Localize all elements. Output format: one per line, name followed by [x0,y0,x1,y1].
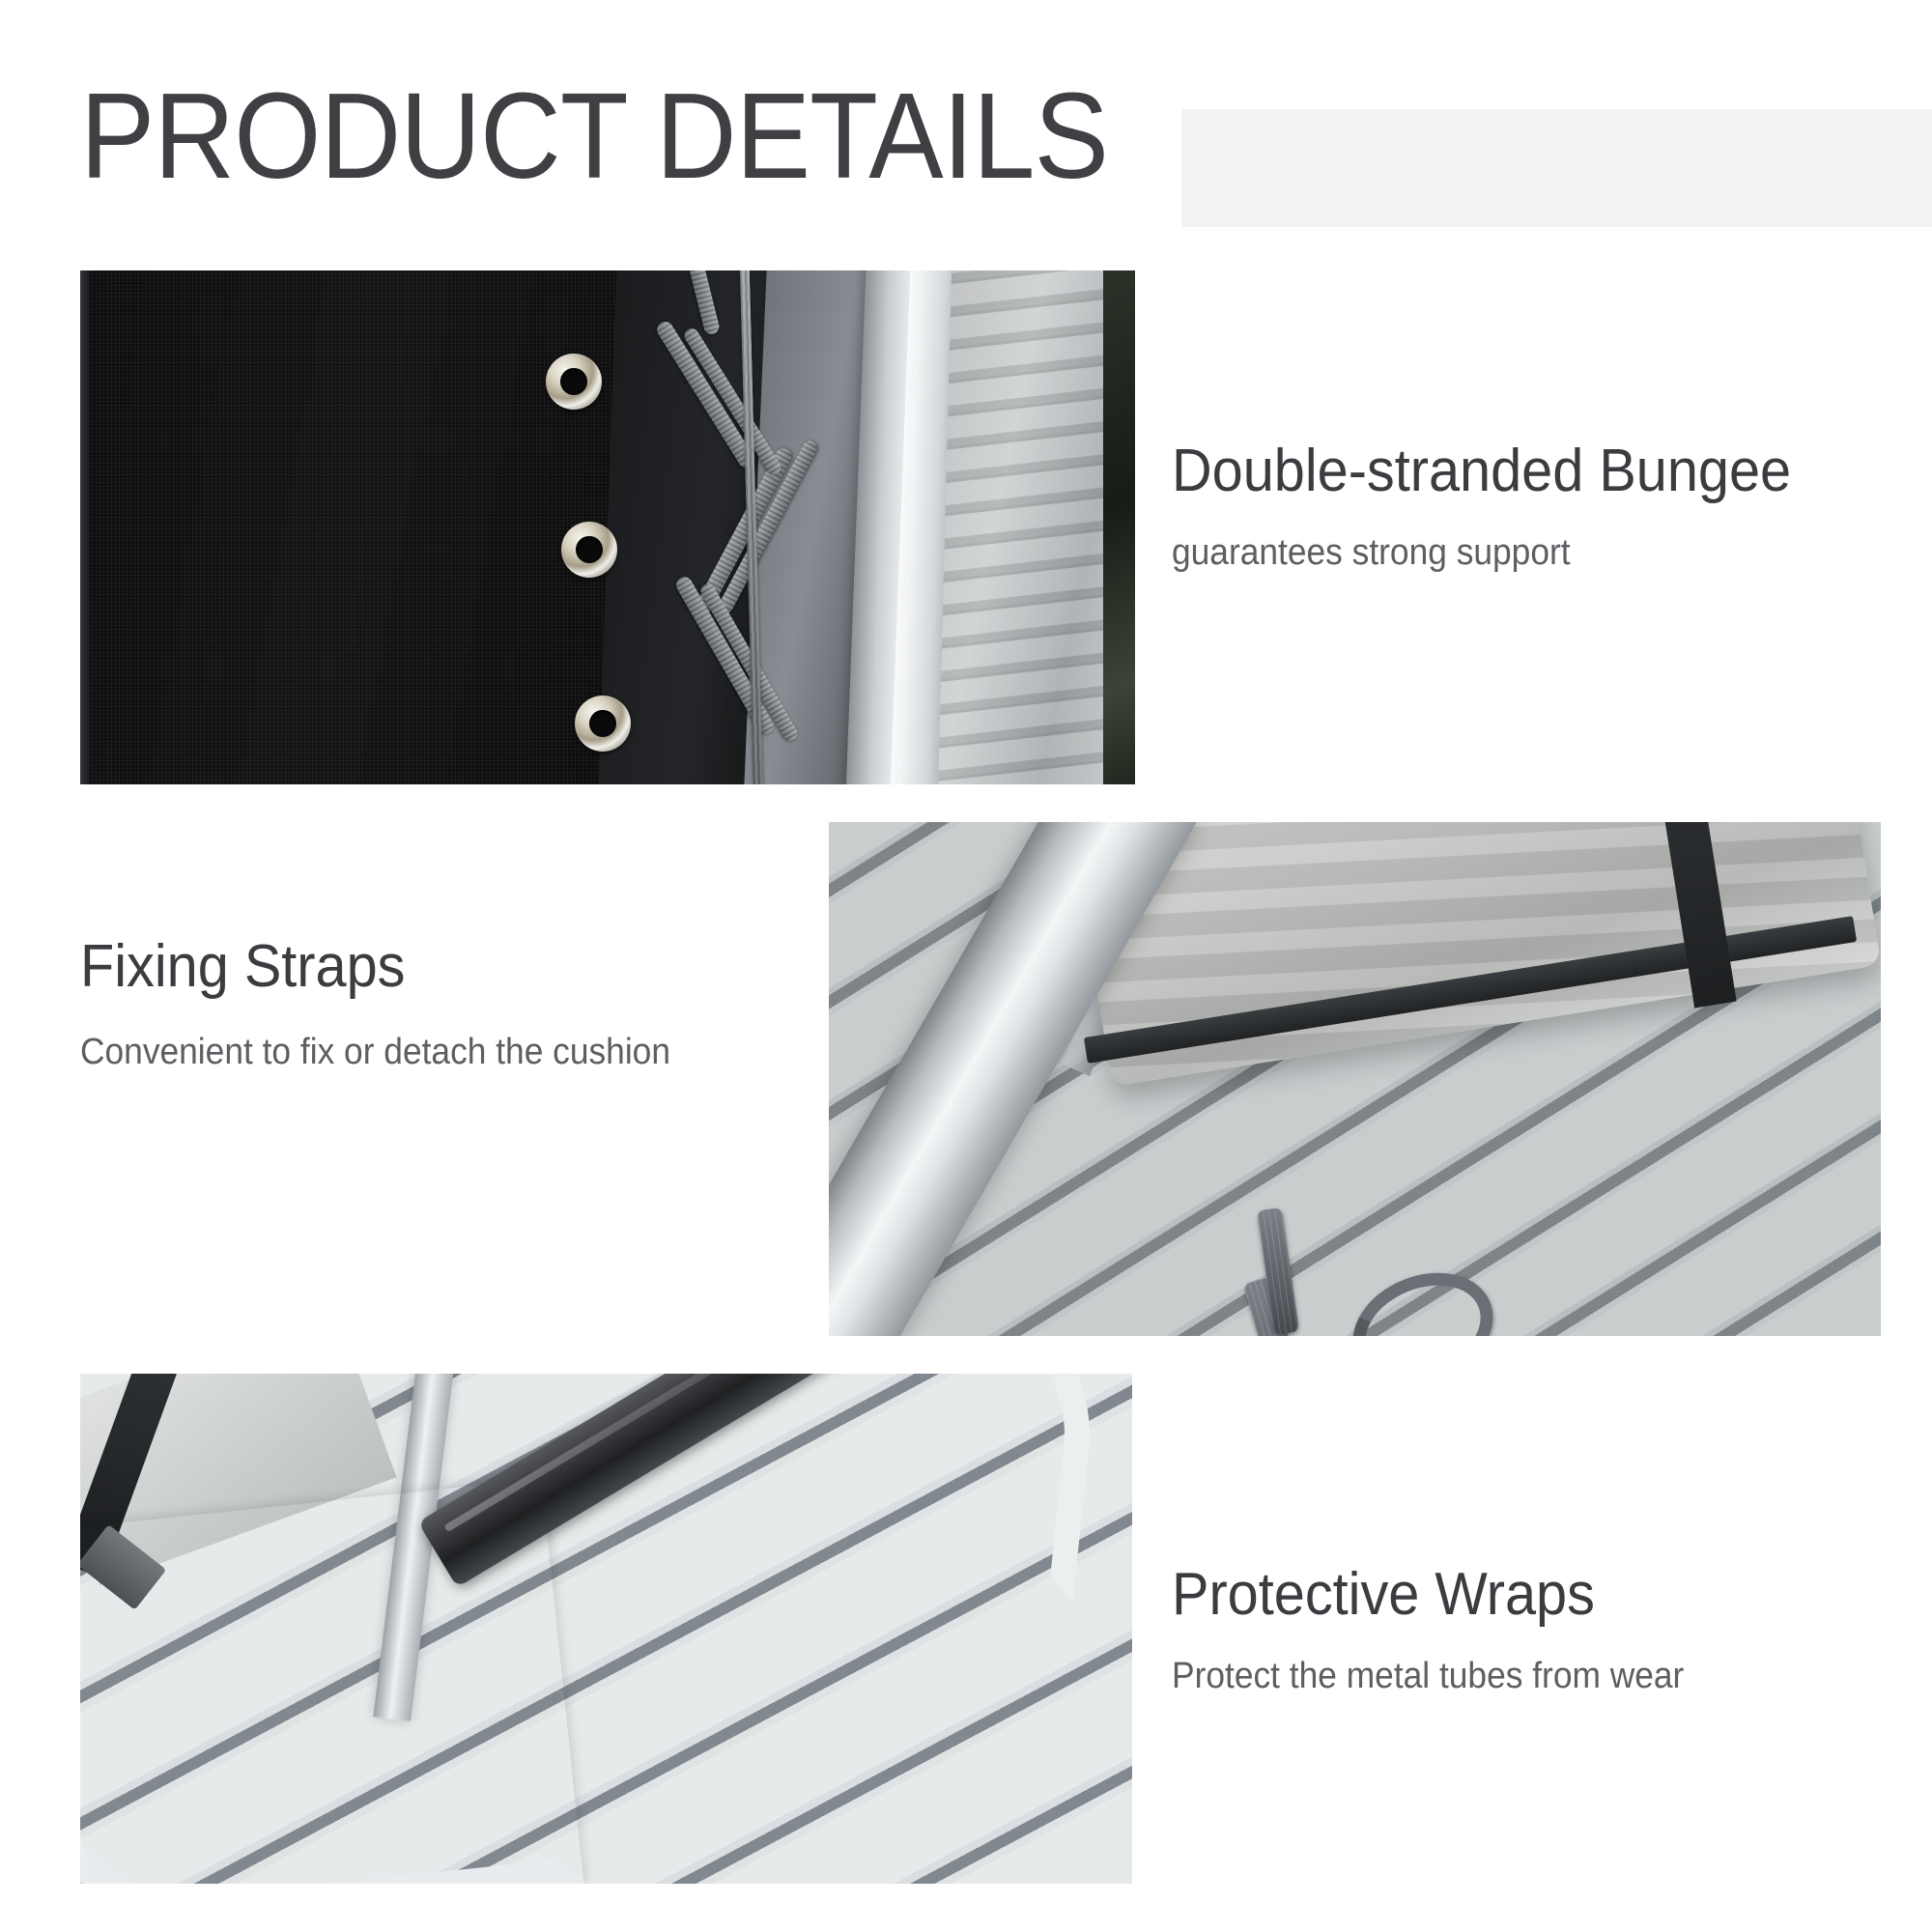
feature-text-wraps: Protective Wraps Protect the metal tubes… [1172,1563,1722,1699]
feature-subtitle-straps: Convenient to fix or detach the cushion [80,1031,670,1075]
feature-heading-straps: Fixing Straps [80,935,670,998]
photo-straps-scene [829,822,1881,1336]
metal-grommet [575,696,631,752]
photo-fixing-strap [829,822,1881,1336]
metal-grommet [546,354,602,410]
white-metal-tube-upper-right [802,1374,1106,1602]
blurred-foliage-background [1103,270,1135,784]
photo-protective-wrap [80,1374,1132,1884]
header-accent-band [1181,109,1932,227]
page-title: PRODUCT DETAILS [80,75,1108,197]
feature-heading-wraps: Protective Wraps [1172,1563,1684,1626]
feature-subtitle-wraps: Protect the metal tubes from wear [1172,1655,1684,1699]
photo-bungee-scene [80,270,1135,784]
mesh-edge-binding [80,270,90,784]
photo-bungee-lacing [80,270,1135,784]
metal-grommet [561,522,617,578]
feature-text-straps: Fixing Straps Convenient to fix or detac… [80,935,715,1075]
feature-text-bungee: Double-stranded Bungee guarantees strong… [1172,440,1837,576]
product-details-page: PRODUCT DETAILS Double-stra [0,0,1932,1932]
feature-heading-bungee: Double-stranded Bungee [1172,440,1791,502]
photo-wraps-scene [80,1374,1132,1884]
feature-subtitle-bungee: guarantees strong support [1172,531,1791,576]
